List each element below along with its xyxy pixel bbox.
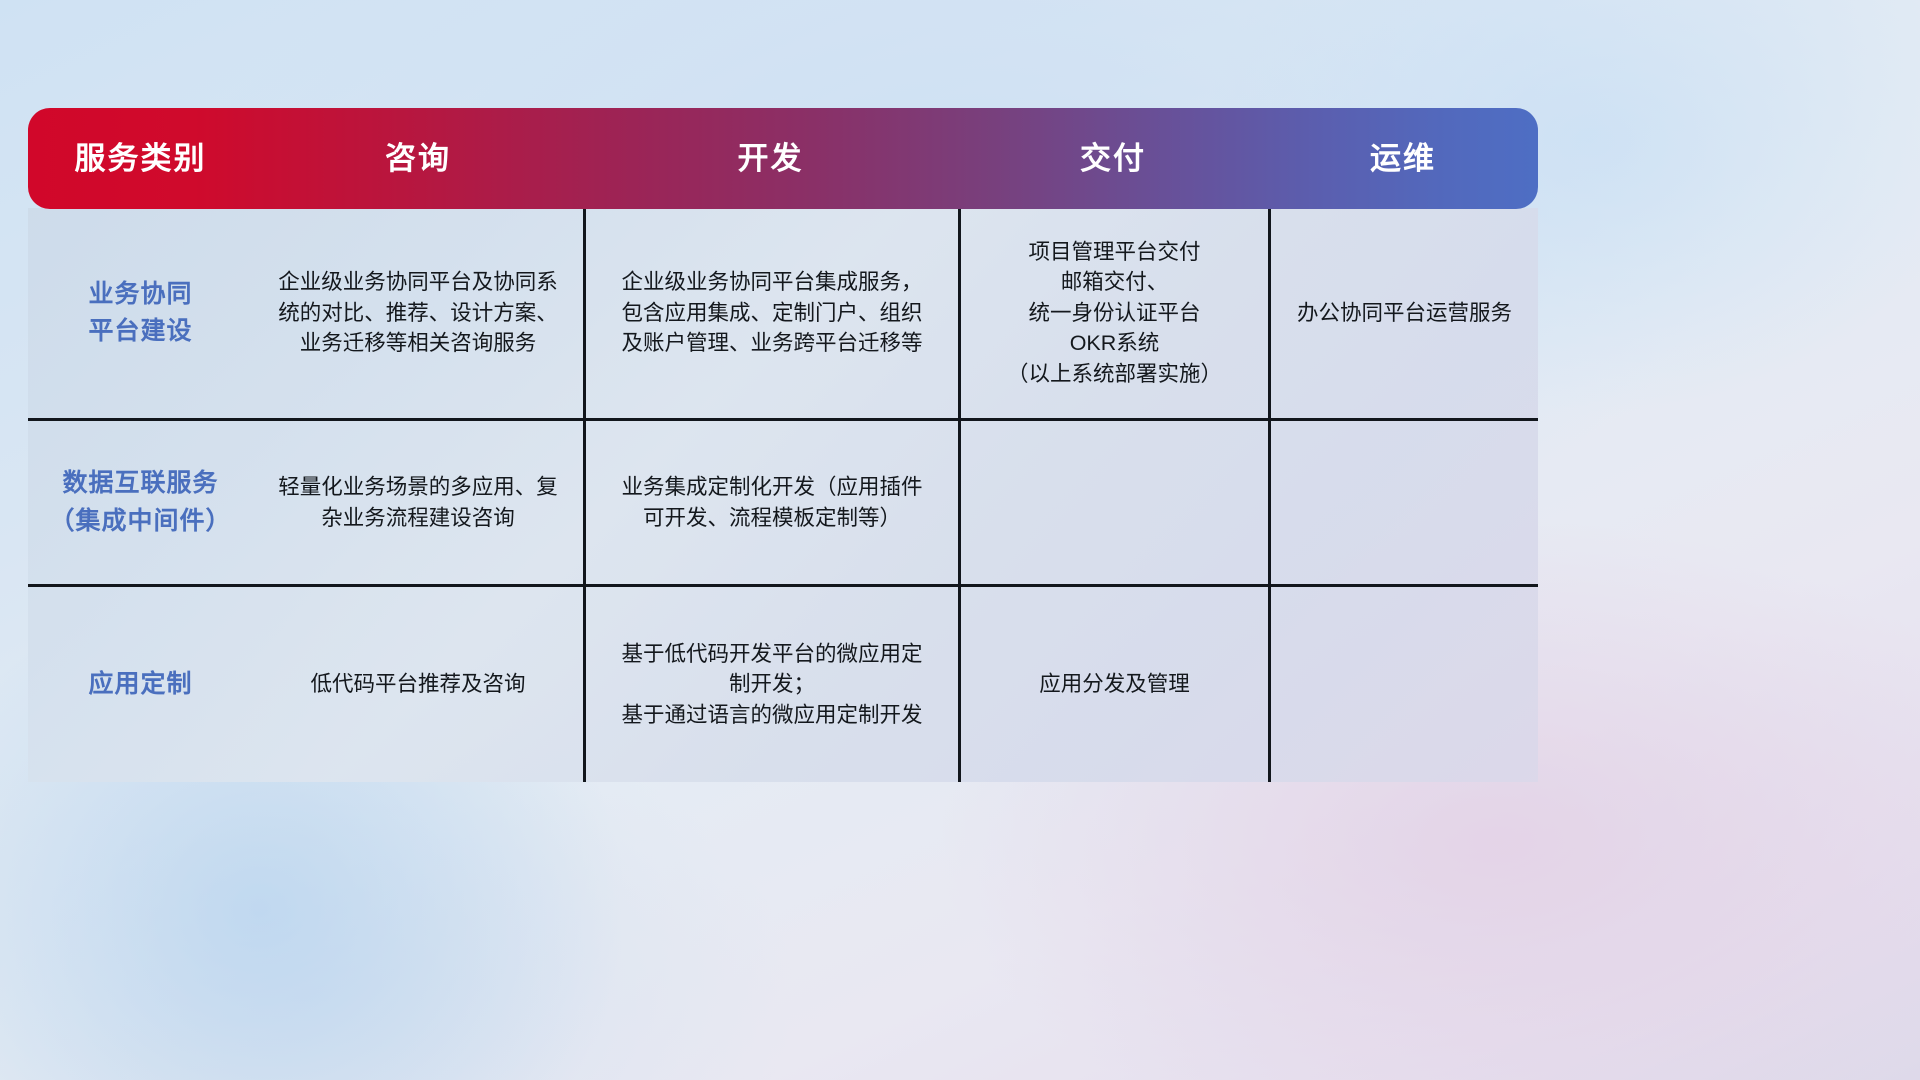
- cell-delivery: 项目管理平台交付 邮箱交付、 统一身份认证平台 OKR系统 （以上系统部署实施）: [958, 208, 1268, 418]
- cell-development: 企业级业务协同平台集成服务， 包含应用集成、定制门户、组织 及账户管理、业务跨平…: [583, 208, 958, 418]
- cell-development: 业务集成定制化开发（应用插件 可开发、流程模板定制等）: [583, 421, 958, 584]
- cell-consulting: 轻量化业务场景的多应用、复 杂业务流程建设咨询: [253, 421, 583, 584]
- cell-category: 应用定制: [28, 587, 253, 782]
- slide-canvas: 服务类别 咨询 开发 交付 运维 业务协同 平台建设 企业级业务协同平台及协同系…: [0, 0, 1920, 1080]
- column-header-development: 开发: [583, 108, 958, 209]
- cell-category: 业务协同 平台建设: [28, 208, 253, 418]
- cell-development: 基于低代码开发平台的微应用定 制开发； 基于通过语言的微应用定制开发: [583, 587, 958, 782]
- table-row: 应用定制 低代码平台推荐及咨询 基于低代码开发平台的微应用定 制开发； 基于通过…: [28, 584, 1538, 782]
- cell-consulting: 低代码平台推荐及咨询: [253, 587, 583, 782]
- column-header-consulting: 咨询: [253, 108, 583, 209]
- cell-delivery: 应用分发及管理: [958, 587, 1268, 782]
- column-header-operations: 运维: [1268, 108, 1538, 209]
- column-header-delivery: 交付: [958, 108, 1268, 209]
- cell-category: 数据互联服务 （集成中间件）: [28, 421, 253, 584]
- table-row: 数据互联服务 （集成中间件） 轻量化业务场景的多应用、复 杂业务流程建设咨询 业…: [28, 418, 1538, 584]
- cell-delivery: [958, 421, 1268, 584]
- table-body: 业务协同 平台建设 企业级业务协同平台及协同系 统的对比、推荐、设计方案、 业务…: [28, 208, 1538, 782]
- column-header-category: 服务类别: [28, 108, 253, 209]
- service-matrix-table: 服务类别 咨询 开发 交付 运维 业务协同 平台建设 企业级业务协同平台及协同系…: [28, 108, 1538, 782]
- cell-operations: 办公协同平台运营服务: [1268, 208, 1538, 418]
- cell-consulting: 企业级业务协同平台及协同系 统的对比、推荐、设计方案、 业务迁移等相关咨询服务: [253, 208, 583, 418]
- table-header-row: 服务类别 咨询 开发 交付 运维: [28, 108, 1538, 209]
- cell-operations: [1268, 421, 1538, 584]
- table-row: 业务协同 平台建设 企业级业务协同平台及协同系 统的对比、推荐、设计方案、 业务…: [28, 208, 1538, 418]
- cell-operations: [1268, 587, 1538, 782]
